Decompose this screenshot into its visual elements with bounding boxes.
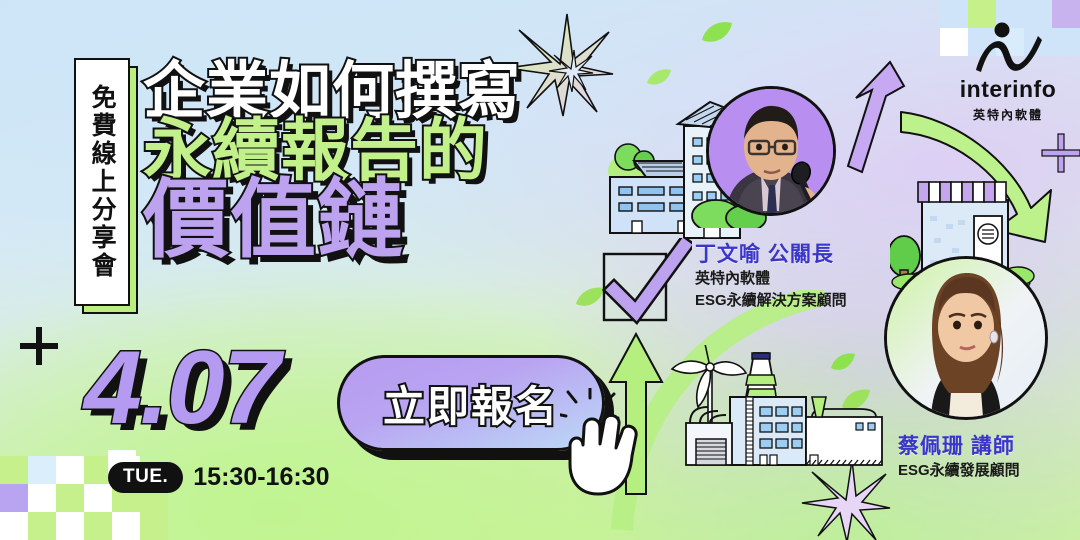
leaf-icon [646,68,672,88]
sparkle-star-icon [548,48,594,92]
checkmark-icon [596,238,692,330]
weekday-badge: TUE. [108,462,183,493]
speaker-info-2: 蔡佩珊 講師 ESG永續發展顧問 [898,430,1020,482]
headline-line-3: 價值鏈 [143,178,521,262]
plus-cross-icon [18,325,60,367]
interinfo-mark-icon [972,22,1044,74]
speaker-name: 丁文喻 公關長 [695,238,847,268]
speaker-role: ESG永續解決方案顧問 [695,290,847,312]
register-button-label: 立即報名 [383,373,559,434]
badge-label: 免費線上分享會 [89,84,115,280]
avatar [884,256,1048,420]
speaker-info-1: 丁文喻 公關長 英特內軟體 ESG永續解決方案顧問 [695,238,847,312]
speaker-name: 蔡佩珊 講師 [898,430,1020,460]
factory-icon [660,345,900,485]
speaker-photo-female-icon [887,259,1045,417]
event-date: 4.07 [84,336,278,440]
brand-wordmark: interinfo [950,76,1066,103]
promo-banner: 免費線上分享會 企業如何撰寫 永續報告的 價值鏈 4.07 TUE. 15:30… [0,0,1080,540]
free-webinar-badge: 免費線上分享會 [74,58,130,306]
plus-cross-icon [1040,132,1080,174]
leaf-icon [700,20,734,46]
brand-logo[interactable]: interinfo 英特內軟體 [950,22,1066,123]
event-time: 15:30-16:30 [193,463,329,492]
event-time-row: TUE. 15:30-16:30 [108,462,330,493]
speaker-role: ESG永續發展顧問 [898,460,1020,482]
speaker-photo-male-icon [709,89,833,213]
avatar [706,86,836,216]
speaker-org: 英特內軟體 [695,268,847,290]
brand-chinese-name: 英特內軟體 [950,106,1066,123]
page-title: 企業如何撰寫 永續報告的 價值鏈 [143,62,521,262]
hand-pointer-icon [560,388,656,498]
